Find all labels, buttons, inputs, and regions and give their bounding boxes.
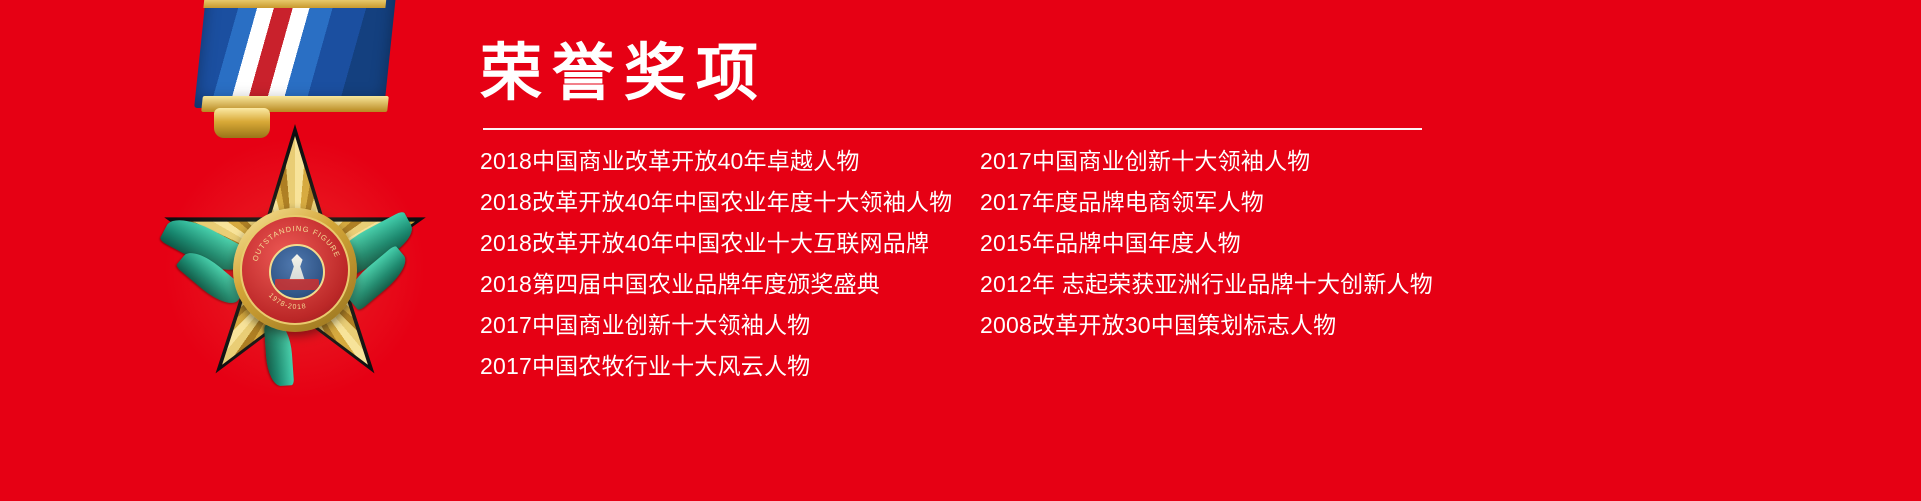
medal-center-disc: OUTSTANDING FIGURE 1978-2018 — [233, 208, 357, 332]
awards-content: 荣誉奖项 2018中国商业改革开放40年卓越人物 2018改革开放40年中国农业… — [480, 0, 1910, 501]
honor-medal-icon: OUTSTANDING FIGURE 1978-2018 — [140, 0, 450, 416]
award-item: 2018改革开放40年中国农业年度十大领袖人物 — [480, 182, 980, 223]
ribbon-clasp — [214, 108, 270, 138]
award-item: 2017中国商业创新十大领袖人物 — [480, 305, 980, 346]
award-item: 2018中国商业改革开放40年卓越人物 — [480, 141, 980, 182]
laurel-leaf — [264, 323, 294, 387]
page-title: 荣誉奖项 — [480, 43, 768, 105]
award-item: 2012年 志起荣获亚洲行业品牌十大创新人物 — [980, 264, 1620, 305]
awards-list: 2018中国商业改革开放40年卓越人物 2018改革开放40年中国农业年度十大领… — [480, 141, 1910, 387]
medal-ribbon — [200, 0, 390, 116]
awards-left-column: 2018中国商业改革开放40年卓越人物 2018改革开放40年中国农业年度十大领… — [480, 141, 980, 387]
award-item: 2017中国农牧行业十大风云人物 — [480, 346, 980, 387]
award-item: 2008改革开放30中国策划标志人物 — [980, 305, 1620, 346]
ribbon-gold-top-edge — [203, 0, 386, 8]
medal-inner-emblem — [269, 244, 325, 300]
award-item: 2018改革开放40年中国农业十大互联网品牌 — [480, 223, 980, 264]
title-divider — [483, 128, 1422, 130]
medal-inner-band — [275, 279, 319, 290]
medal-red-ring: OUTSTANDING FIGURE 1978-2018 — [240, 215, 350, 325]
medal-figure-glyph — [287, 254, 307, 280]
awards-right-column: 2017中国商业创新十大领袖人物 2017年度品牌电商领军人物 2015年品牌中… — [980, 141, 1620, 387]
award-item: 2015年品牌中国年度人物 — [980, 223, 1620, 264]
ribbon-stripes — [194, 0, 396, 108]
honor-awards-banner: OUTSTANDING FIGURE 1978-2018 荣誉奖项 — [0, 0, 1921, 501]
award-item: 2017中国商业创新十大领袖人物 — [980, 141, 1620, 182]
award-item: 2018第四届中国农业品牌年度颁奖盛典 — [480, 264, 980, 305]
award-item: 2017年度品牌电商领军人物 — [980, 182, 1620, 223]
